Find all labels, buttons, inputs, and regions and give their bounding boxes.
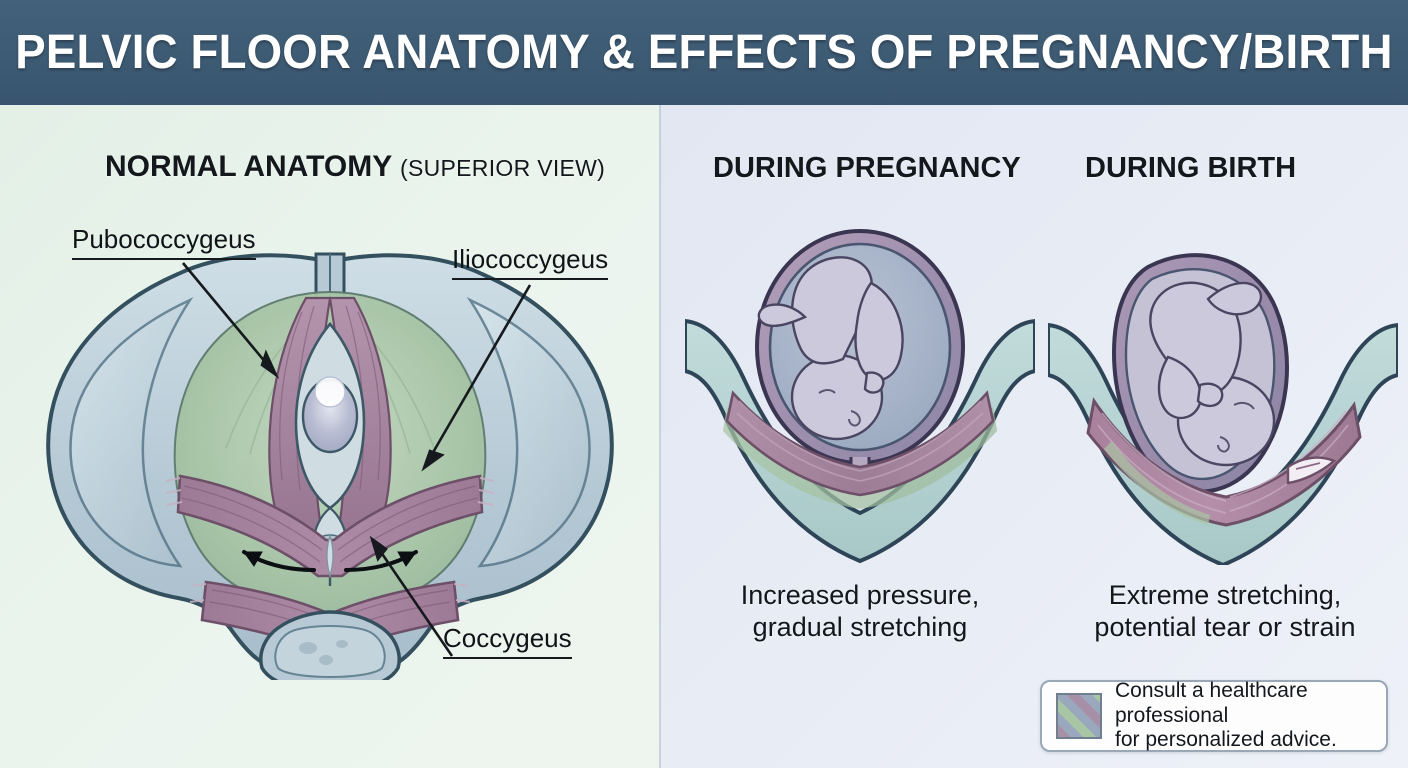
page-title: PELVIC FLOOR ANATOMY & EFFECTS OF PREGNA… (15, 25, 1392, 80)
label-coccygeus: Coccygeus (443, 623, 572, 659)
section-title-during-birth: DURING BIRTH (1085, 152, 1296, 185)
infographic-page: PELVIC FLOOR ANATOMY & EFFECTS OF PREGNA… (0, 0, 1408, 768)
disclaimer-legend: Consult a healthcare professional for pe… (1040, 680, 1388, 752)
muscle-color-swatch (1056, 693, 1102, 739)
disclaimer-line-2: for personalized advice. (1115, 728, 1372, 753)
caption-line-1: Extreme stretching, (1055, 580, 1395, 612)
caption-line-1: Increased pressure, (690, 580, 1030, 612)
panel-divider (659, 105, 661, 768)
section-title-sub: (SUPERIOR VIEW) (400, 155, 605, 181)
page-header: PELVIC FLOOR ANATOMY & EFFECTS OF PREGNA… (0, 0, 1408, 107)
section-title-main: NORMAL ANATOMY (105, 150, 392, 183)
section-title-during-pregnancy: DURING PREGNANCY (713, 152, 1021, 185)
section-title-normal-anatomy: NORMAL ANATOMY (SUPERIOR VIEW) (105, 150, 605, 184)
caption-during-birth: Extreme stretching, potential tear or st… (1055, 580, 1395, 644)
caption-line-2: potential tear or strain (1055, 612, 1395, 644)
disclaimer-text: Consult a healthcare professional for pe… (1115, 679, 1372, 753)
pelvis-superior-view-illustration (30, 240, 630, 680)
caption-line-2: gradual stretching (690, 612, 1030, 644)
pregnancy-illustration (685, 225, 1035, 565)
label-iliococcygeus: Iliococcygeus (452, 244, 608, 280)
label-pubococcygeus: Pubococcygeus (72, 224, 256, 260)
birth-illustration (1048, 225, 1398, 565)
disclaimer-line-1: Consult a healthcare professional (1115, 679, 1372, 729)
caption-during-pregnancy: Increased pressure, gradual stretching (690, 580, 1030, 644)
